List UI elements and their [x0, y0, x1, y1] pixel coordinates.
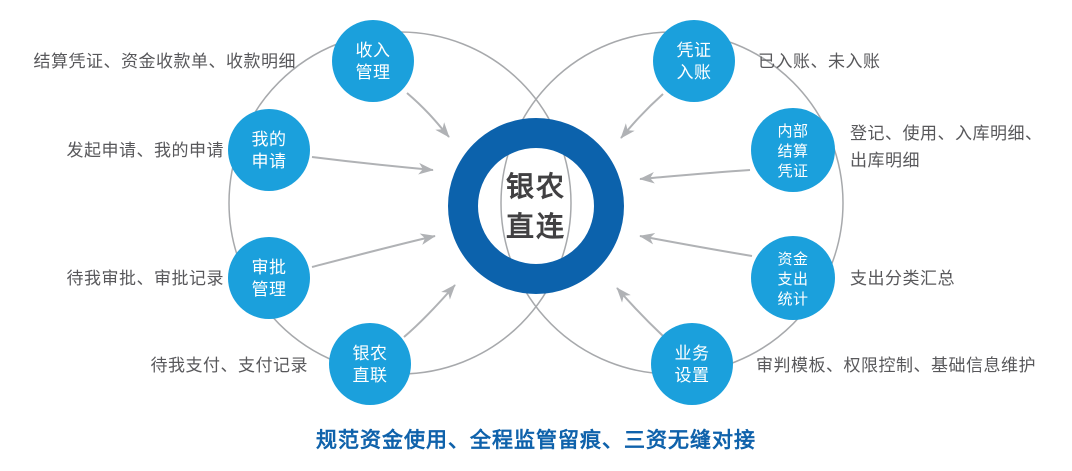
node-approval-management-circle[interactable]: [228, 237, 310, 319]
arrow-income-management: [407, 93, 449, 137]
node-my-application-line-0: 我的: [252, 130, 287, 149]
bottom-caption: 规范资金使用、全程监管留痕、三资无缝对接: [0, 424, 1072, 454]
node-internal-settlement-line-0: 内部: [777, 123, 808, 140]
node-business-settings-line-1: 设置: [675, 366, 710, 385]
label-internal-settlement: 登记、使用、入库明细、 出库明细: [850, 120, 1072, 174]
label-bank-village-direct: 待我支付、支付记录: [0, 352, 308, 379]
node-income-management-line-1: 管理: [356, 63, 391, 82]
arrow-business-settings: [617, 288, 663, 336]
node-my-application[interactable]: 我的 申请: [228, 109, 310, 191]
arrow-approval-management: [312, 236, 435, 267]
node-bank-village-direct-line-1: 直联: [353, 366, 388, 385]
node-expenditure-statistics-line-1: 支出: [777, 271, 808, 288]
label-expenditure-statistics: 支出分类汇总: [850, 265, 1072, 292]
node-voucher-entry-line-1: 入账: [677, 63, 712, 82]
node-bank-village-direct[interactable]: 银农 直联: [329, 323, 411, 405]
diagram-canvas: 银农 直连 收入 管理 我的 申请 审批 管理 银农 直联 凭证: [0, 0, 1072, 471]
center-hub-label-line1: 银农: [506, 171, 566, 202]
arrow-internal-settlement: [640, 170, 750, 179]
node-expenditure-statistics-line-0: 资金: [777, 251, 808, 268]
node-expenditure-statistics[interactable]: 资金 支出 统计: [751, 236, 835, 320]
node-my-application-line-1: 申请: [252, 152, 287, 171]
label-voucher-entry: 已入账、未入账: [758, 48, 1058, 75]
node-business-settings[interactable]: 业务 设置: [651, 323, 733, 405]
arrow-voucher-entry: [621, 94, 663, 138]
node-voucher-entry[interactable]: 凭证 入账: [653, 20, 735, 102]
label-my-application: 发起申请、我的申请: [0, 137, 224, 164]
label-approval-management: 待我审批、审批记录: [0, 265, 224, 292]
node-bank-village-direct-circle[interactable]: [329, 323, 411, 405]
node-expenditure-statistics-line-2: 统计: [777, 291, 808, 308]
node-business-settings-line-0: 业务: [675, 344, 710, 363]
arrow-expenditure-statistics: [640, 236, 752, 256]
node-my-application-circle[interactable]: [228, 109, 310, 191]
node-income-management[interactable]: 收入 管理: [332, 20, 414, 102]
node-voucher-entry-circle[interactable]: [653, 20, 735, 102]
node-approval-management-line-0: 审批: [252, 258, 287, 277]
node-internal-settlement-line-2: 凭证: [777, 163, 808, 180]
center-hub-ring: [463, 133, 609, 279]
center-hub-label-line2: 直连: [506, 211, 566, 242]
node-internal-settlement[interactable]: 内部 结算 凭证: [751, 108, 835, 192]
node-income-management-circle[interactable]: [332, 20, 414, 102]
arrow-bank-village-direct: [404, 285, 455, 337]
node-approval-management-line-1: 管理: [252, 280, 287, 299]
arrow-my-application: [312, 157, 433, 170]
node-voucher-entry-line-0: 凭证: [677, 41, 712, 60]
node-business-settings-circle[interactable]: [651, 323, 733, 405]
node-internal-settlement-line-1: 结算: [777, 142, 808, 160]
label-income-management: 结算凭证、资金收款单、收款明细: [0, 48, 296, 75]
node-approval-management[interactable]: 审批 管理: [228, 237, 310, 319]
node-bank-village-direct-line-0: 银农: [353, 344, 388, 363]
node-income-management-line-0: 收入: [356, 41, 391, 60]
label-business-settings: 审判模板、权限控制、基础信息维护: [756, 352, 1072, 379]
